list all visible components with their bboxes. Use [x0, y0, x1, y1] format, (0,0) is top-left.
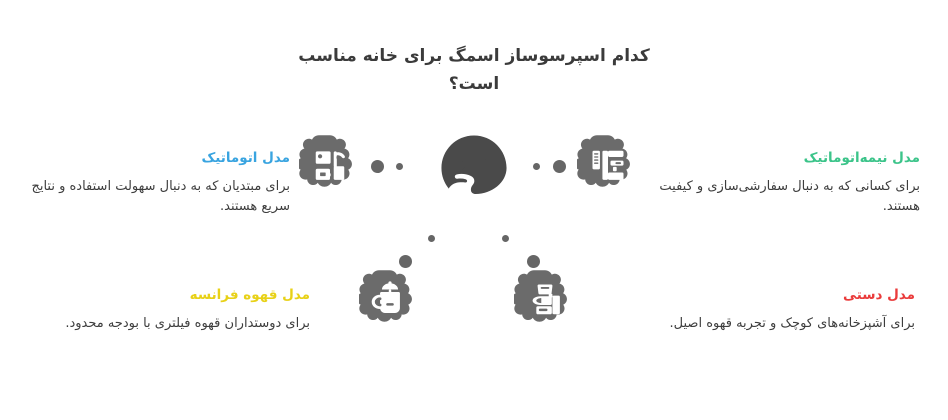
node-manual: مدل دستی برای آشپزخانه‌های کوچک و تجربه … — [625, 287, 915, 334]
automatic-espresso-machine-icon — [299, 134, 361, 196]
node-semiautomatic: مدل نیمه‌اتوماتیک برای کسانی که به دنبال… — [650, 150, 920, 217]
thinking-face-icon — [437, 131, 511, 205]
connector-dot — [502, 235, 509, 242]
page-title: کدام اسپرسوساز اسمگ برای خانه مناسب است؟ — [274, 42, 674, 98]
node-french-description: برای دوستداران قهوه فیلتری با بودجه محدو… — [28, 314, 310, 334]
connector-dot — [533, 163, 540, 170]
node-french: مدل قهوه فرانسه برای دوستداران قهوه فیلت… — [28, 287, 310, 334]
node-manual-description: برای آشپزخانه‌های کوچک و تجربه قهوه اصیل… — [625, 314, 915, 334]
connector-dot — [396, 163, 403, 170]
node-manual-heading: مدل دستی — [625, 287, 915, 305]
node-french-heading: مدل قهوه فرانسه — [28, 287, 310, 305]
connector-dot — [428, 235, 435, 242]
manual-lever-machine-icon — [514, 269, 576, 331]
semiautomatic-coffee-machine-icon — [577, 134, 639, 196]
node-automatic: مدل اتوماتیک برای مبتدیان که به دنبال سه… — [28, 150, 290, 217]
french-press-icon — [359, 269, 421, 331]
connector-dot — [553, 160, 566, 173]
connector-dot — [371, 160, 384, 173]
node-semiautomatic-heading: مدل نیمه‌اتوماتیک — [650, 150, 920, 168]
node-semiautomatic-description: برای کسانی که به دنبال سفارشی‌سازی و کیف… — [650, 177, 920, 217]
node-automatic-description: برای مبتدیان که به دنبال سهولت استفاده و… — [28, 177, 290, 217]
connector-dot — [399, 255, 412, 268]
node-automatic-heading: مدل اتوماتیک — [28, 150, 290, 168]
connector-dot — [527, 255, 540, 268]
